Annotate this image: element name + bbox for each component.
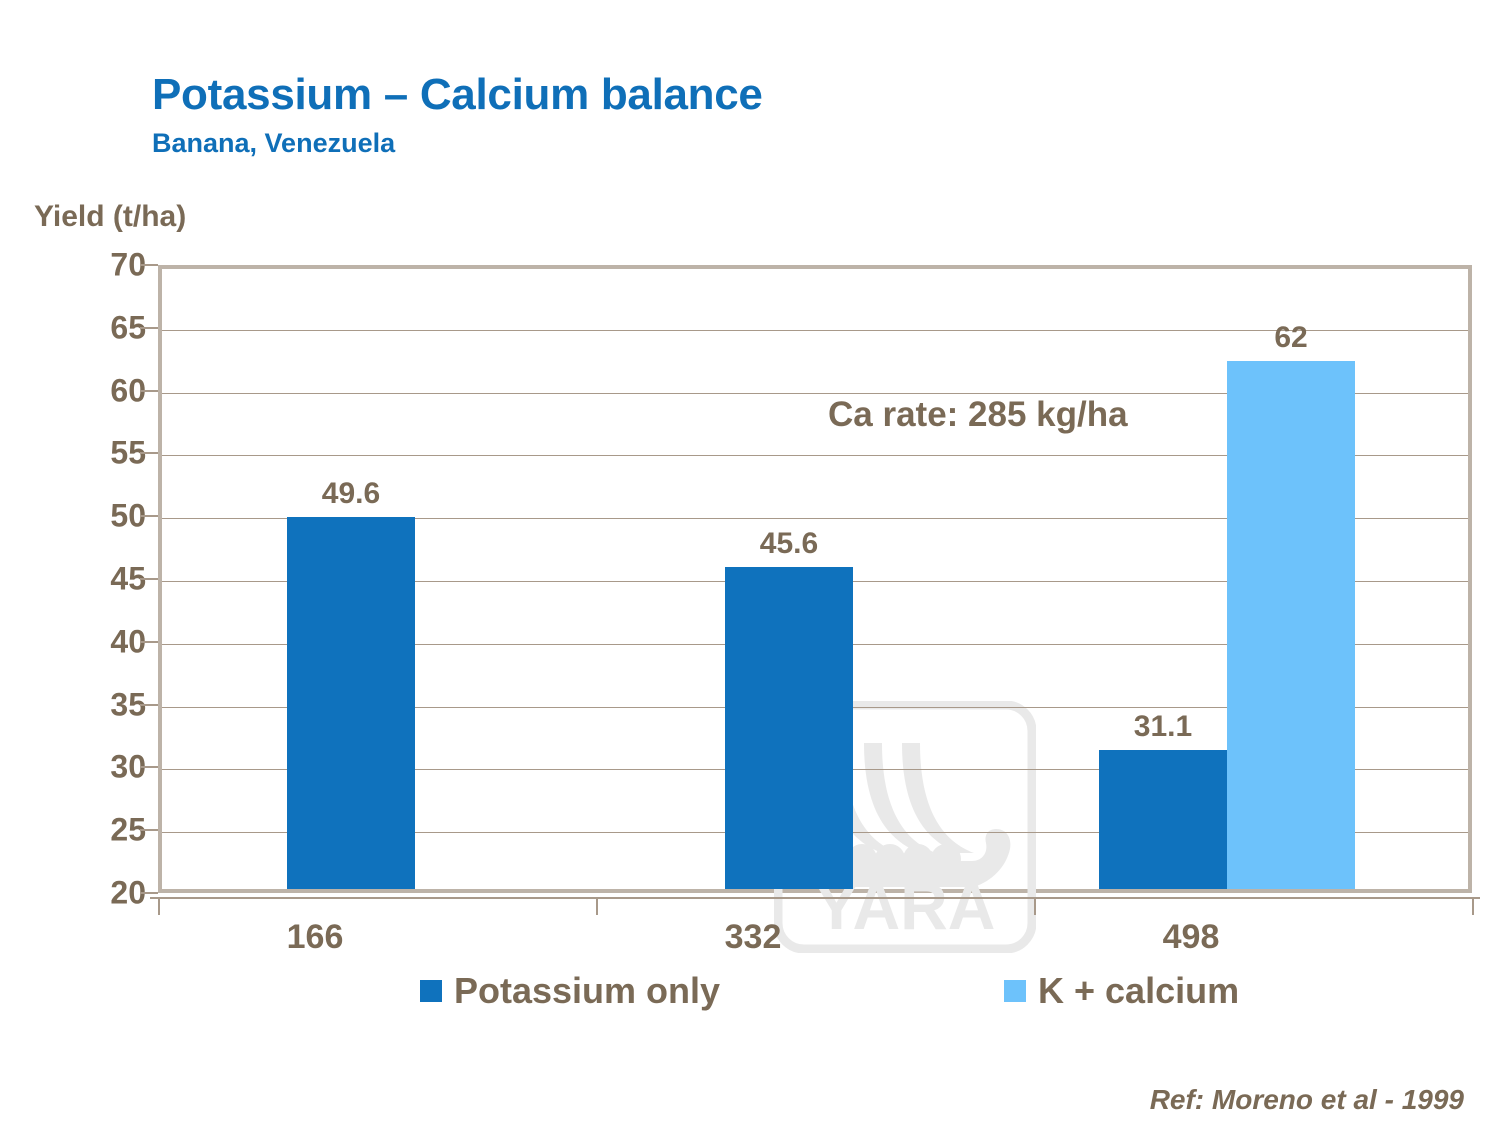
legend-item-potassium-only[interactable]: Potassium only bbox=[420, 970, 720, 1012]
y-tick-label: 60 bbox=[56, 372, 146, 409]
y-tick-label: 30 bbox=[56, 749, 146, 786]
annotation-ca-rate: Ca rate: 285 kg/ha bbox=[828, 395, 1128, 435]
bar-value-label: 49.6 bbox=[322, 477, 380, 511]
x-tick-mark bbox=[1034, 897, 1036, 915]
y-tick-mark bbox=[140, 515, 158, 517]
bar-potassium-only[interactable] bbox=[287, 517, 415, 889]
y-tick-mark bbox=[140, 641, 158, 643]
x-axis-line bbox=[150, 897, 1480, 899]
legend: Potassium onlyK + calcium bbox=[158, 970, 1472, 1020]
x-tick-mark bbox=[596, 897, 598, 915]
bar-value-label: 31.1 bbox=[1134, 710, 1192, 744]
y-tick-label: 45 bbox=[56, 561, 146, 598]
y-tick-label: 40 bbox=[56, 623, 146, 660]
y-tick-mark bbox=[140, 892, 158, 894]
x-tick-mark bbox=[1472, 897, 1474, 915]
page-title: Potassium – Calcium balance bbox=[152, 70, 763, 120]
y-tick-label: 35 bbox=[56, 686, 146, 723]
x-tick-label: 332 bbox=[725, 918, 782, 957]
reference-citation: Ref: Moreno et al - 1999 bbox=[1150, 1084, 1464, 1116]
y-tick-label: 25 bbox=[56, 812, 146, 849]
y-tick-label: 70 bbox=[56, 247, 146, 284]
bar-value-label: 45.6 bbox=[760, 527, 818, 561]
bar-potassium-only[interactable] bbox=[1099, 750, 1227, 889]
bar-potassium-only[interactable] bbox=[725, 567, 853, 889]
legend-item-k-plus-calcium[interactable]: K + calcium bbox=[1004, 970, 1239, 1012]
y-tick-label: 50 bbox=[56, 498, 146, 535]
y-tick-label: 55 bbox=[56, 435, 146, 472]
y-tick-mark bbox=[140, 264, 158, 266]
y-tick-mark bbox=[140, 452, 158, 454]
bar-value-label: 62 bbox=[1274, 321, 1307, 355]
legend-label: K + calcium bbox=[1038, 970, 1239, 1012]
y-tick-mark bbox=[140, 704, 158, 706]
x-tick-label: 166 bbox=[287, 918, 344, 957]
y-tick-mark bbox=[140, 578, 158, 580]
y-tick-label: 20 bbox=[56, 875, 146, 912]
legend-label: Potassium only bbox=[454, 970, 720, 1012]
plot-area: YARA 49.645.631.162 bbox=[158, 265, 1472, 893]
y-axis-title: Yield (t/ha) bbox=[34, 200, 186, 234]
legend-swatch-icon bbox=[420, 980, 442, 1002]
gridline bbox=[162, 330, 1468, 331]
y-tick-mark bbox=[140, 766, 158, 768]
y-tick-label: 65 bbox=[56, 309, 146, 346]
x-tick-label: 498 bbox=[1163, 918, 1220, 957]
bar-k-plus-calcium[interactable] bbox=[1227, 361, 1355, 889]
chart-subtitle: Banana, Venezuela bbox=[152, 128, 395, 159]
x-tick-mark bbox=[158, 897, 160, 915]
y-tick-mark bbox=[140, 390, 158, 392]
legend-swatch-icon bbox=[1004, 980, 1026, 1002]
y-tick-mark bbox=[140, 829, 158, 831]
y-tick-mark bbox=[140, 327, 158, 329]
